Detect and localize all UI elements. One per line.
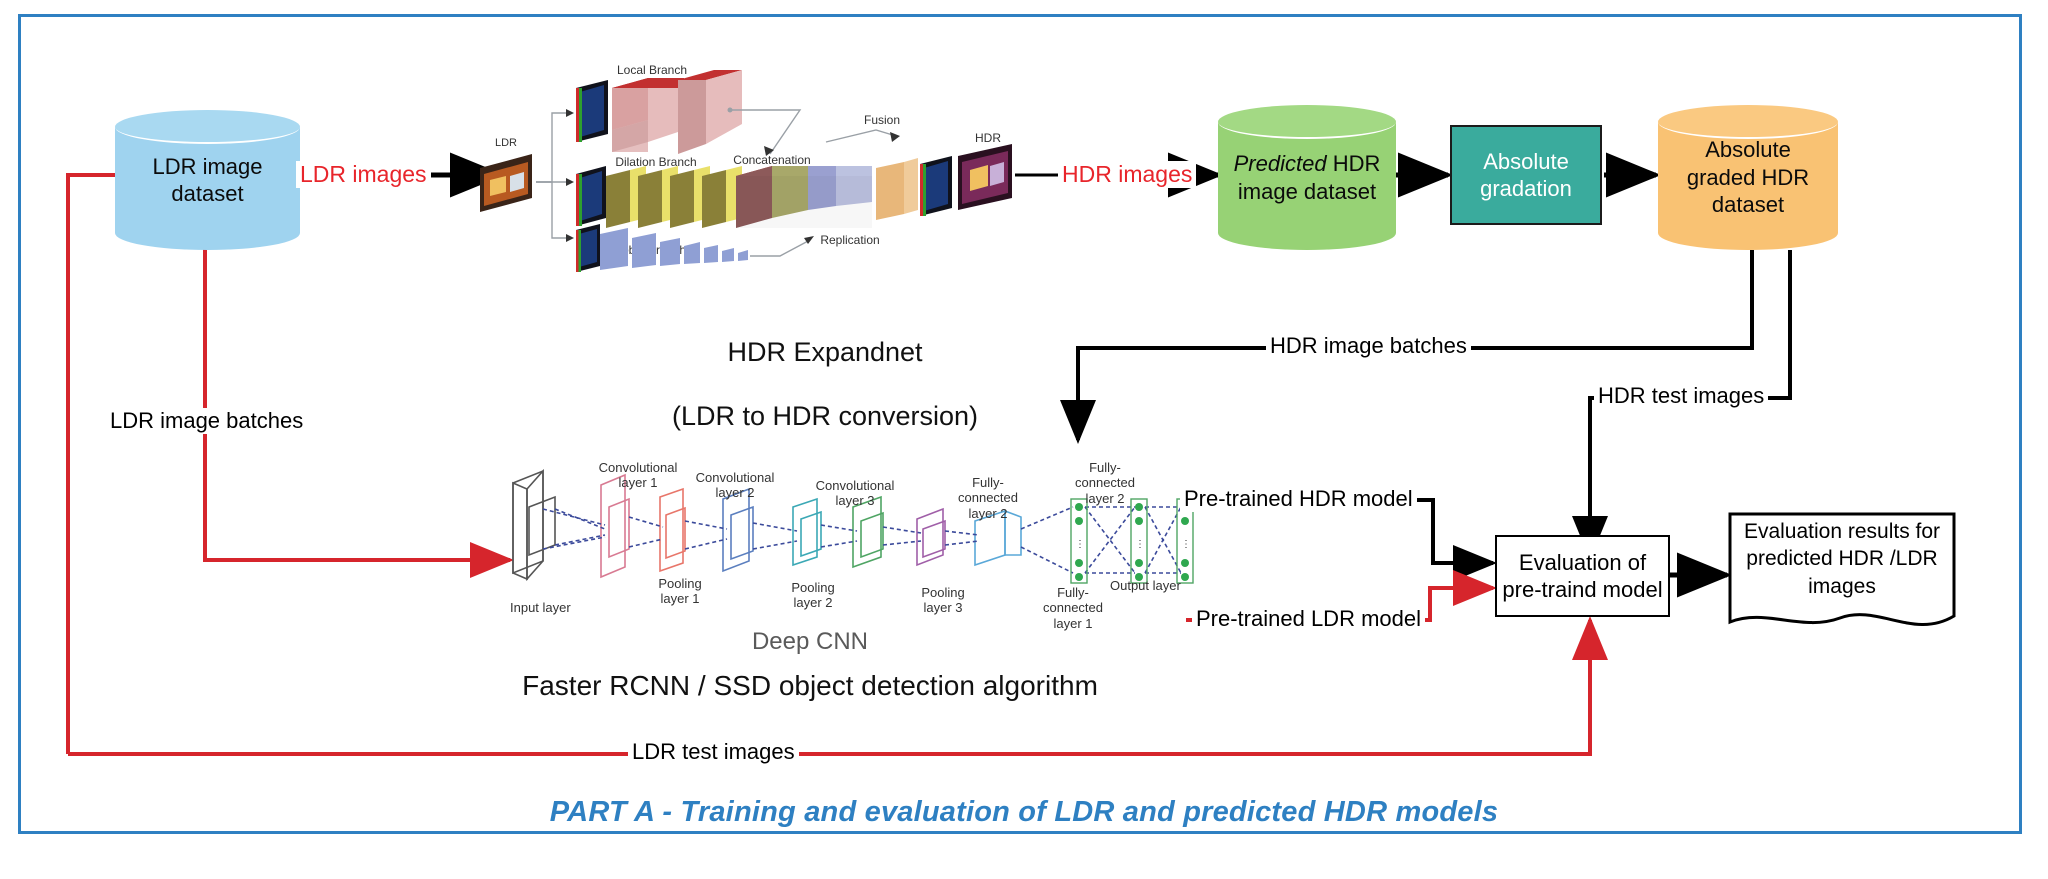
evaluation-line2: pre-traind model [1502, 577, 1662, 602]
svg-text:⋮: ⋮ [1075, 539, 1085, 550]
ldr-dataset-line1: LDR image [152, 154, 262, 179]
cnn-label-conv2: Convolutionallayer 2 [680, 470, 790, 501]
node-ldr-image-dataset[interactable]: LDR image dataset [115, 110, 300, 250]
expandnet-fusion-label: Fusion [864, 113, 900, 127]
predicted-hdr-rest: HDR [1327, 151, 1381, 176]
ldr-dataset-line2: dataset [171, 181, 243, 206]
absolute-graded-line3: dataset [1712, 192, 1784, 217]
expandnet-replication-label: Replication [820, 233, 879, 247]
cnn-label-pool3: Poolinglayer 3 [903, 585, 983, 616]
cnn-label-fc2-a: Fully-connectedlayer 2 [945, 475, 1031, 521]
expandnet-dilation-branch-label: Dilation Branch [615, 155, 696, 169]
absolute-gradation-line1: Absolute [1483, 149, 1569, 174]
edge-label-ldr-test-images: LDR test images [628, 739, 799, 765]
expandnet-output-label: HDR [975, 131, 1001, 145]
results-line2: predicted HDR /LDR [1746, 547, 1937, 570]
node-evaluation-of-pretrained-model[interactable]: Evaluation of pre-traind model [1495, 535, 1670, 617]
part-title: PART A - Training and evaluation of LDR … [0, 795, 2048, 829]
svg-text:⋮: ⋮ [1135, 539, 1145, 550]
node-predicted-hdr-dataset[interactable]: Predicted HDR image dataset [1218, 105, 1396, 250]
predicted-hdr-italic: Predicted [1234, 151, 1327, 176]
diagram-canvas: LDR image dataset Predicted HDR image da… [0, 0, 2048, 879]
evaluation-line1: Evaluation of [1519, 550, 1646, 575]
absolute-gradation-line2: gradation [1480, 176, 1572, 201]
node-evaluation-results[interactable]: Evaluation results for predicted HDR /LD… [1728, 512, 1956, 642]
expandnet-concatenation-label: Concatenation [733, 153, 810, 167]
cnn-label-output-layer: Output layer [1110, 578, 1181, 593]
edge-label-pretrained-ldr-model: Pre-trained LDR model [1192, 606, 1425, 632]
edge-label-hdr-image-batches: HDR image batches [1266, 333, 1471, 359]
cnn-label-pool2: Poolinglayer 2 [773, 580, 853, 611]
node-label: Predicted HDR image dataset [1218, 105, 1396, 250]
edge-label-hdr-test-images: HDR test images [1594, 383, 1768, 409]
node-label: Absolute graded HDR dataset [1658, 105, 1838, 250]
hdr-expandnet-schematic: LDR Local Branch [480, 58, 1020, 283]
predicted-hdr-line2: image dataset [1238, 179, 1376, 204]
edge-label-ldr-images: LDR images [296, 161, 431, 188]
expandnet-local-branch-label: Local Branch [617, 63, 687, 77]
cnn-label-fc2-b: Fully-connectedlayer 2 [1062, 460, 1148, 506]
caption-hdr-expandnet: HDR Expandnet (LDR to HDR conversion) [620, 305, 1000, 464]
results-line1: Evaluation results for [1744, 520, 1940, 543]
expandnet-caption-line2: (LDR to HDR conversion) [672, 401, 978, 431]
cnn-label-conv1: Convolutionallayer 1 [583, 460, 693, 491]
absolute-graded-line1: Absolute [1705, 137, 1791, 162]
cnn-label-fc1: Fully-connectedlayer 1 [1030, 585, 1116, 631]
results-line3: images [1808, 575, 1876, 598]
caption-deep-cnn: Deep CNN [680, 628, 940, 656]
node-label: LDR image dataset [115, 110, 300, 250]
node-absolute-gradation[interactable]: Absolute gradation [1450, 125, 1602, 225]
edge-label-ldr-image-batches: LDR image batches [105, 408, 308, 434]
node-absolute-graded-hdr-dataset[interactable]: Absolute graded HDR dataset [1658, 105, 1838, 250]
expandnet-input-label: LDR [495, 137, 517, 149]
edge-label-pretrained-hdr-model: Pre-trained HDR model [1180, 486, 1417, 512]
cnn-label-pool1: Poolinglayer 1 [640, 576, 720, 607]
edge-label-hdr-images: HDR images [1058, 161, 1196, 188]
caption-object-detection-algorithm: Faster RCNN / SSD object detection algor… [440, 669, 1180, 702]
absolute-graded-line2: graded HDR [1687, 165, 1809, 190]
svg-text:⋮: ⋮ [1181, 539, 1191, 550]
expandnet-caption-line1: HDR Expandnet [727, 337, 922, 367]
evaluation-results-label: Evaluation results for predicted HDR /LD… [1728, 518, 1956, 600]
cnn-label-input-layer: Input layer [510, 600, 571, 615]
cnn-label-conv3: Convolutionallayer 3 [800, 478, 910, 509]
